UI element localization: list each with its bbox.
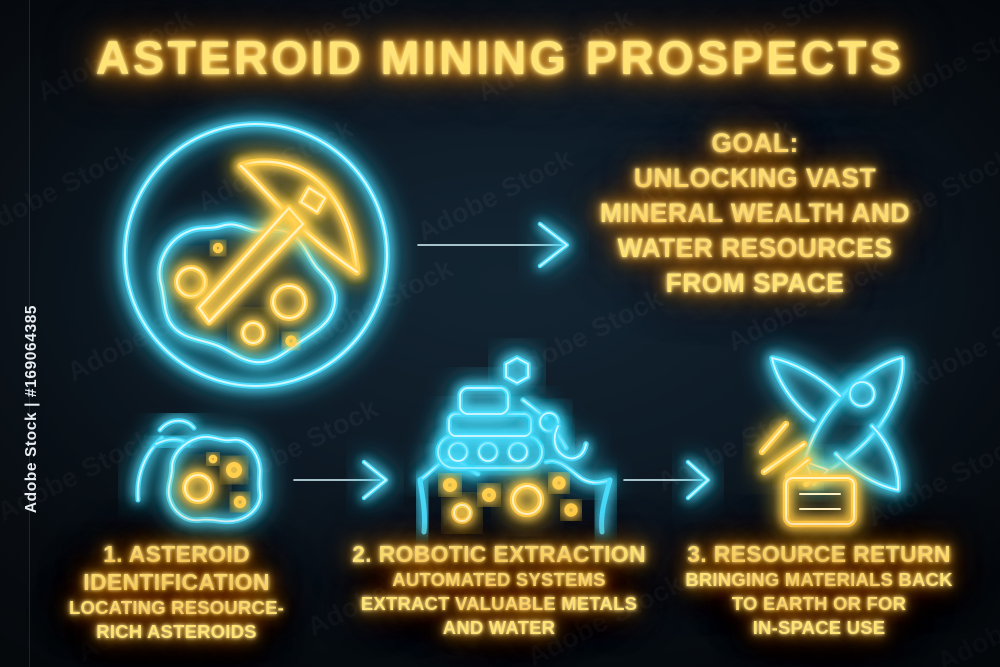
step-1-desc-line-1: LOCATING RESOURCE-: [44, 596, 309, 620]
step-1-caption: 1. ASTEROID IDENTIFICATION LOCATING RESO…: [44, 540, 309, 644]
goal-line-4: WATER RESOURCES: [586, 231, 924, 266]
goal-line-2: UNLOCKING VAST: [586, 161, 924, 196]
goal-line-5: FROM SPACE: [586, 266, 924, 301]
step-3-desc-line-3: IN-SPACE USE: [668, 616, 970, 640]
step-1-desc-line-2: RICH ASTEROIDS: [44, 620, 309, 644]
step-3-desc-line-2: TO EARTH OR FOR: [668, 592, 970, 616]
asteroid-pickaxe-icon: [113, 112, 399, 398]
stock-watermark-id: Adobe Stock | #169064385: [23, 259, 41, 559]
step-2-desc-line-2: EXTRACT VALUABLE METALS: [338, 592, 660, 616]
step-1-title-line-2: IDENTIFICATION: [44, 568, 309, 596]
arrow-right-icon: [412, 218, 582, 272]
step-2-desc-line-3: AND WATER: [338, 616, 660, 640]
step-2-title-line-1: 2. ROBOTIC EXTRACTION: [338, 540, 660, 568]
infographic-canvas: Adobe Stock Adobe Stock Adobe Stock Adob…: [0, 0, 1000, 667]
goal-line-3: MINERAL WEALTH AND: [586, 196, 924, 231]
step-1-title-line-1: 1. ASTEROID: [44, 540, 309, 568]
step-3-title-line-1: 3. RESOURCE RETURN: [668, 540, 970, 568]
asteroid-icon: [128, 408, 273, 533]
goal-text-block: GOAL: UNLOCKING VAST MINERAL WEALTH AND …: [586, 126, 924, 301]
step-3-desc-line-1: BRINGING MATERIALS BACK: [668, 568, 970, 592]
goal-line-1: GOAL:: [586, 126, 924, 161]
step-2-desc-line-1: AUTOMATED SYSTEMS: [338, 568, 660, 592]
mining-rover-icon: [418, 352, 614, 538]
step-3-caption: 3. RESOURCE RETURN BRINGING MATERIALS BA…: [668, 540, 970, 640]
page-title: ASTEROID MINING PROSPECTS: [0, 30, 1000, 85]
rocket-cargo-icon: [744, 342, 934, 534]
arrow-right-icon: [618, 455, 722, 505]
arrow-right-icon: [288, 455, 400, 505]
stock-sidebar: Adobe Stock | #169064385: [0, 0, 30, 667]
step-2-caption: 2. ROBOTIC EXTRACTION AUTOMATED SYSTEMS …: [338, 540, 660, 640]
